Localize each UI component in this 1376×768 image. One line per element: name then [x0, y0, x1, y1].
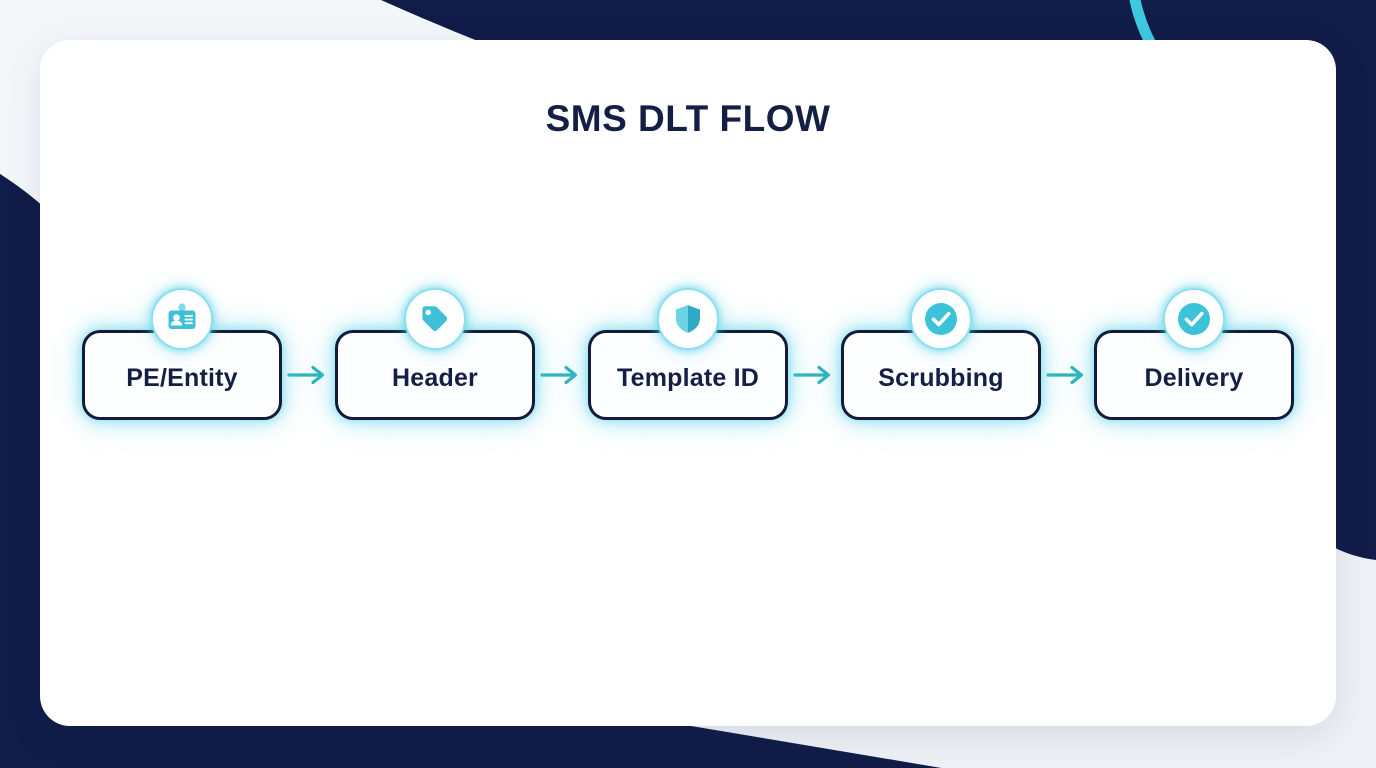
content-card: SMS DLT FLOW PE/Entity [40, 40, 1336, 726]
flow-node-label: Template ID [617, 360, 759, 391]
flow-node-label: Header [392, 360, 478, 391]
flow-node-label: PE/Entity [126, 360, 238, 391]
flow-node-delivery[interactable]: Delivery [1094, 330, 1294, 420]
flow-connector-3 [791, 362, 839, 388]
check-circle-icon [1163, 288, 1225, 350]
page-title: SMS DLT FLOW [40, 98, 1336, 140]
check-circle-icon [910, 288, 972, 350]
flow-node-template-id[interactable]: Template ID [588, 330, 788, 420]
flow-node-pe-entity[interactable]: PE/Entity [82, 330, 282, 420]
flow-node-scrubbing[interactable]: Scrubbing [841, 330, 1041, 420]
tag-icon [404, 288, 466, 350]
flow-node-header[interactable]: Header [335, 330, 535, 420]
flow-connector-4 [1044, 362, 1092, 388]
id-card-icon [151, 288, 213, 350]
flow-node-label: Scrubbing [878, 360, 1003, 391]
shield-icon [657, 288, 719, 350]
flow-diagram: PE/Entity Header [82, 310, 1294, 440]
slide-canvas: SMS DLT FLOW PE/Entity [0, 0, 1376, 768]
flow-connector-2 [538, 362, 586, 388]
flow-node-label: Delivery [1145, 360, 1244, 391]
flow-connector-1 [285, 362, 333, 388]
